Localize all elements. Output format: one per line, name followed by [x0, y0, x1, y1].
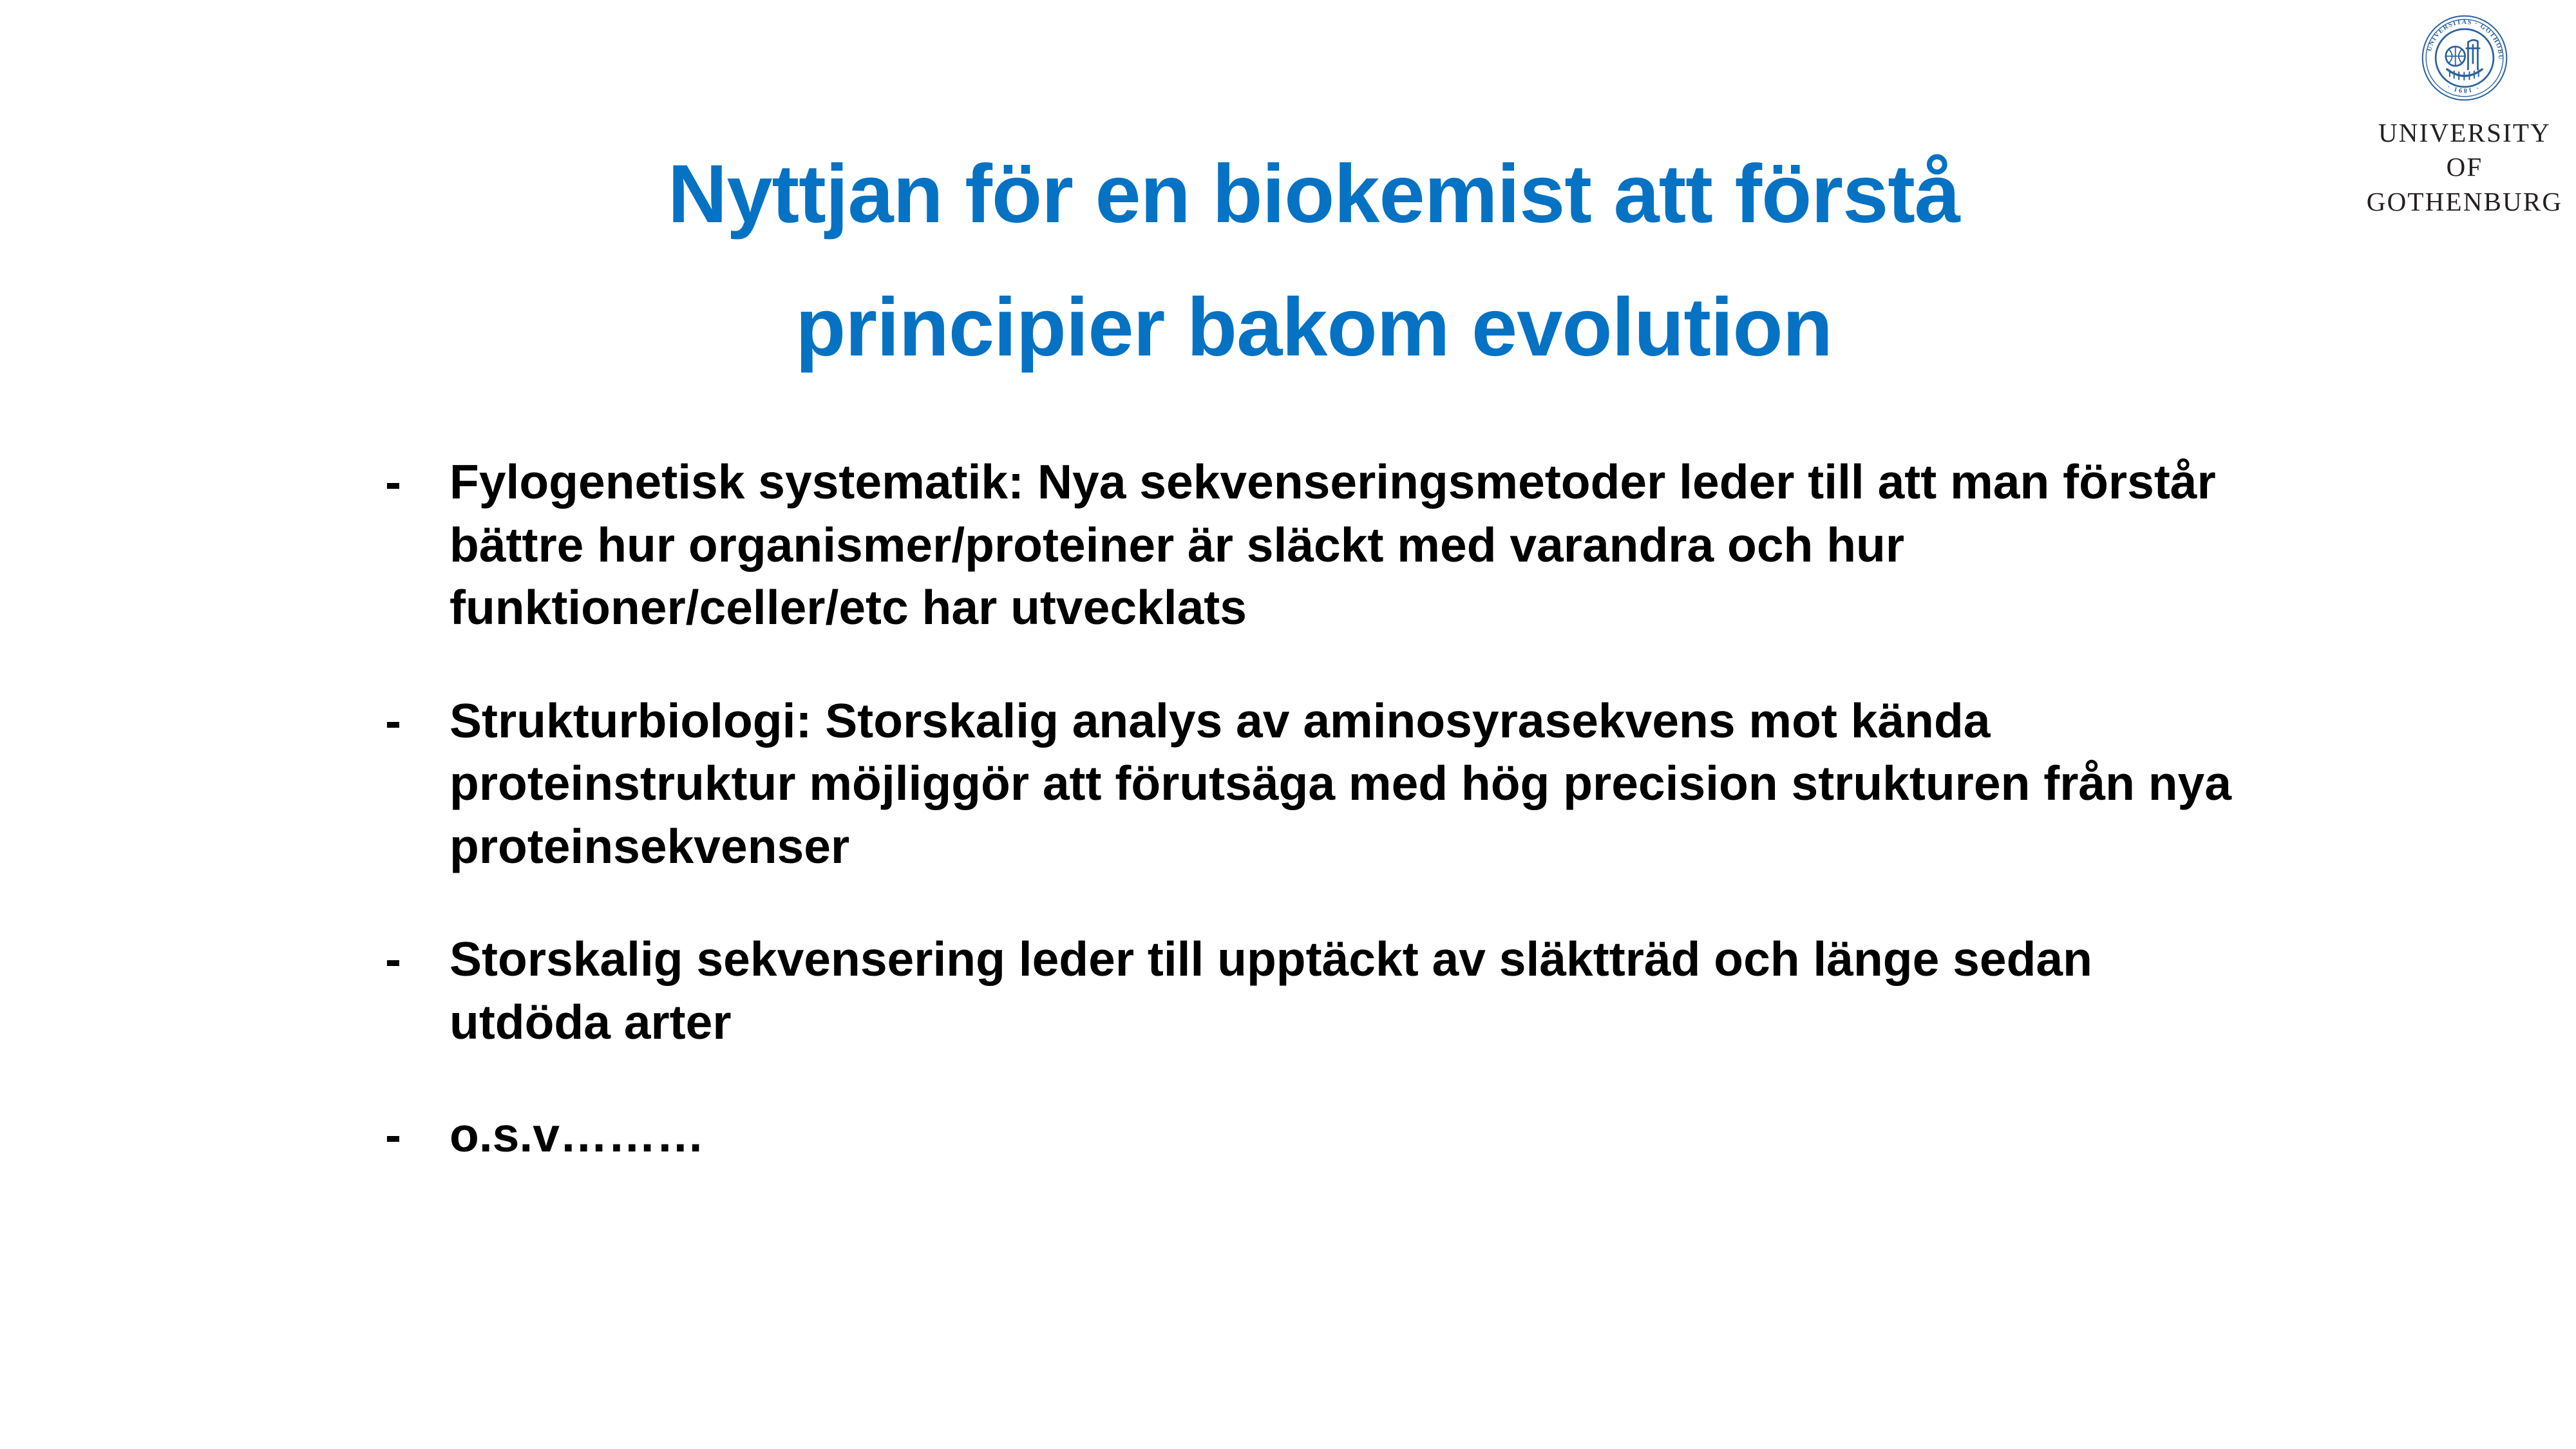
bullet-text: Fylogenetisk systematik: Nya sekvenserin… — [450, 451, 2253, 639]
list-item: - Strukturbiologi: Storskalig analys av … — [385, 690, 2253, 878]
bullet-dash-icon: - — [385, 1104, 450, 1167]
bullet-text: o.s.v……… — [450, 1104, 2253, 1167]
bullet-dash-icon: - — [385, 928, 450, 991]
list-item: - Fylogenetisk systematik: Nya sekvenser… — [385, 451, 2253, 639]
slide-title-line-1: Nyttjan för en biokemist att förstå — [193, 128, 2434, 261]
svg-text:· 1891 ·: · 1891 · — [2445, 82, 2480, 93]
list-item: - Storskalig sekvensering leder till upp… — [385, 928, 2253, 1054]
university-seal-icon: UNIVERSITAS · GOTHOBURGENSIS · 1891 · — [2421, 14, 2508, 102]
slide-bullet-list: - Fylogenetisk systematik: Nya sekvenser… — [385, 451, 2253, 1167]
bullet-dash-icon: - — [385, 451, 450, 514]
bullet-dash-icon: - — [385, 690, 450, 753]
bullet-text: Strukturbiologi: Storskalig analys av am… — [450, 690, 2253, 878]
list-item: - o.s.v……… — [385, 1104, 2253, 1167]
slide-title: Nyttjan för en biokemist att förstå prin… — [193, 128, 2434, 395]
presentation-slide: UNIVERSITAS · GOTHOBURGENSIS · 1891 · UN… — [0, 0, 2576, 1449]
slide-title-line-2: principier bakom evolution — [193, 261, 2434, 394]
bullet-text: Storskalig sekvensering leder till upptä… — [450, 928, 2253, 1054]
